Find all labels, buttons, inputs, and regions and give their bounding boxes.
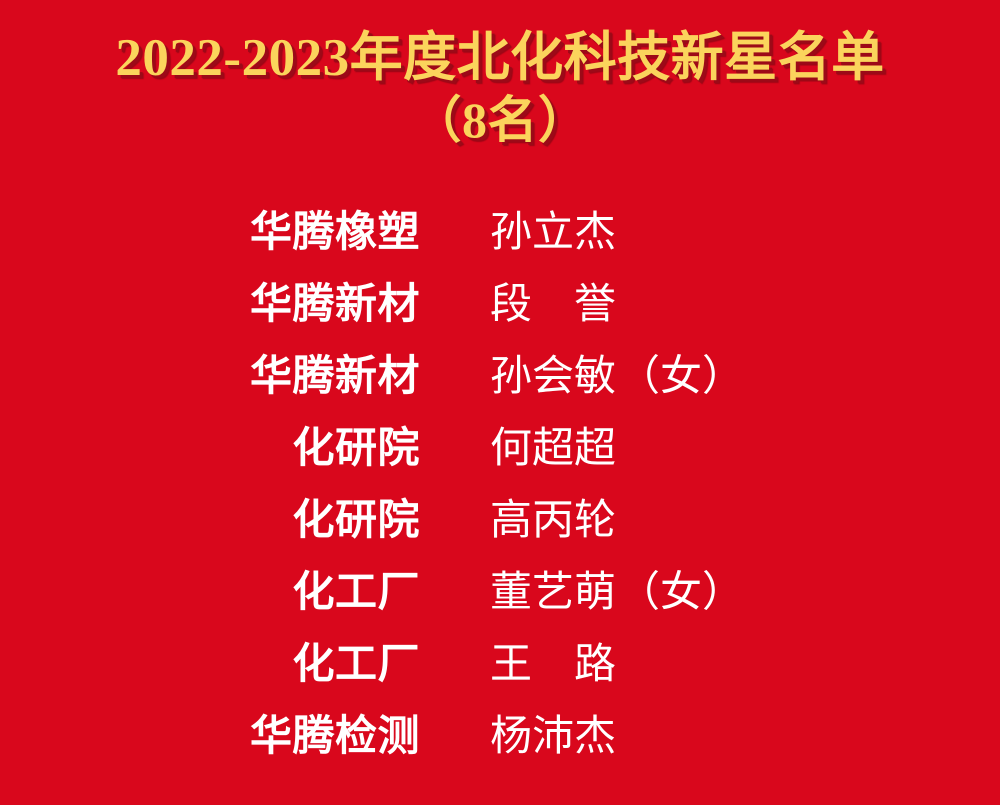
recipient-name-cell: 何超超 [490,413,1000,485]
award-list-poster: 2022-2023年度北化科技新星名单 （8名） 华腾橡塑孙立杰华腾新材段誉华腾… [0,0,1000,805]
page-title: 2022-2023年度北化科技新星名单 （8名） [0,26,1000,150]
recipient-unit: 化工厂 [0,556,420,628]
title-line-count: （8名） [0,90,1000,150]
recipient-name-cell: 杨沛杰 [490,701,1000,773]
recipient-unit: 化研院 [0,484,420,556]
recipient-unit: 华腾新材 [0,268,420,340]
list-item: 化工厂王路 [0,628,1000,700]
list-item: 华腾橡塑孙立杰 [0,196,1000,268]
recipient-unit: 华腾检测 [0,700,420,772]
recipient-name: 孙会敏 [490,341,616,413]
recipient-unit: 华腾新材 [0,340,420,412]
recipient-name-cell: 孙会敏（女） [490,341,1000,413]
recipient-name: 杨沛杰 [490,701,616,773]
recipient-name-cell: 段誉 [490,269,1000,341]
recipient-name: 何超超 [490,413,616,485]
recipient-unit: 华腾橡塑 [0,196,420,268]
recipient-name: 董艺萌 [490,557,616,629]
list-item: 化工厂董艺萌（女） [0,556,1000,628]
recipient-gender-note: （女） [618,341,744,413]
recipient-name-cell: 董艺萌（女） [490,557,1000,629]
list-item: 华腾检测杨沛杰 [0,700,1000,772]
recipient-name-cell: 孙立杰 [490,197,1000,269]
list-item: 化研院何超超 [0,412,1000,484]
recipient-gender-note: （女） [618,557,744,629]
list-item: 华腾新材段誉 [0,268,1000,340]
list-item: 华腾新材孙会敏（女） [0,340,1000,412]
award-recipient-list: 华腾橡塑孙立杰华腾新材段誉华腾新材孙会敏（女）化研院何超超化研院高丙轮化工厂董艺… [0,196,1000,772]
recipient-name-cell: 高丙轮 [490,485,1000,557]
recipient-name: 段誉 [490,269,658,341]
recipient-unit: 化工厂 [0,628,420,700]
recipient-name: 高丙轮 [490,485,616,557]
title-line-main: 2022-2023年度北化科技新星名单 [0,26,1000,90]
recipient-name: 王路 [490,629,658,701]
recipient-name-cell: 王路 [490,629,1000,701]
list-item: 化研院高丙轮 [0,484,1000,556]
recipient-name: 孙立杰 [490,197,616,269]
recipient-unit: 化研院 [0,412,420,484]
